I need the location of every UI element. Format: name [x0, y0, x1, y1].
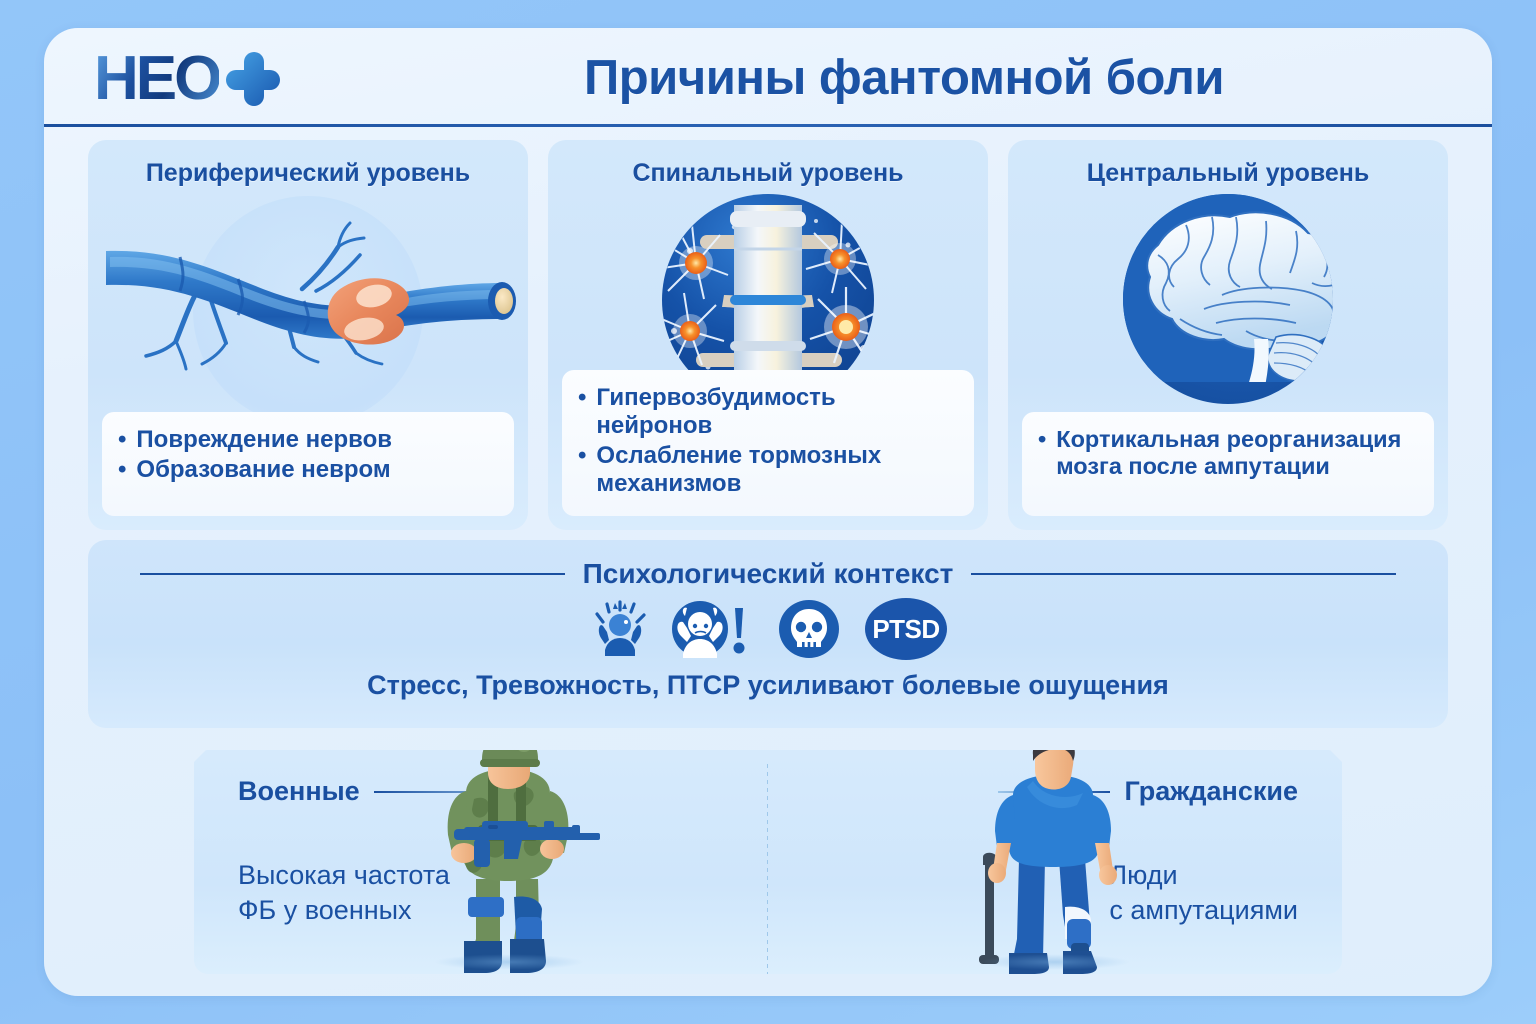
level-card-central[interactable]: Центральный уровень [1008, 140, 1448, 530]
bullet-text: Повреждение нервов [136, 426, 392, 454]
group-title-military: Военные [238, 776, 360, 807]
psychological-context-header: Психологический контекст [88, 540, 1448, 590]
rule-right [971, 573, 1396, 575]
bullet-item: • Гипервозбудимость нейронов [578, 384, 958, 440]
header-divider [44, 124, 1492, 127]
bullet-item: • Кортикальная реорганизация мозга после… [1038, 426, 1418, 481]
figure-shadow [434, 954, 584, 970]
stress-person-icon [589, 598, 651, 660]
psychological-caption: Стресс, Тревожность, ПТСР усиливают боле… [88, 670, 1448, 701]
anxiety-person-icon [669, 598, 753, 660]
brain-head-svg [1008, 190, 1448, 382]
psychological-context-section: Психологический контекст [88, 540, 1448, 728]
level-title-peripheral: Периферический уровень [88, 159, 528, 188]
figure-shadow [980, 954, 1130, 970]
bullet-item: • Образование невром [118, 456, 498, 484]
nerve-damage-icon [88, 190, 528, 382]
bullet-marker: • [578, 442, 586, 498]
page-title: Причины фантомной боли [374, 50, 1434, 106]
level-bullets-spinal: • Гипервозбудимость нейронов • Ослаблени… [562, 370, 974, 516]
brain-icon [1008, 190, 1448, 382]
skull-svg [771, 598, 847, 660]
skull-icon [771, 598, 847, 660]
bullet-item: • Повреждение нервов [118, 426, 498, 454]
ptsd-label: PTSD [872, 614, 939, 645]
rule-left [140, 573, 565, 575]
levels-row: Периферический уровень [88, 140, 1448, 530]
bullet-marker: • [1038, 426, 1046, 481]
bullet-text: Гипервозбудимость нейронов [596, 384, 958, 440]
bullet-marker: • [118, 426, 126, 454]
groups-row: Военные Высокая частота ФБ у военных [194, 750, 1342, 974]
level-title-central: Центральный уровень [1008, 159, 1448, 188]
bullet-text: Ослабление тормозных механизмов [596, 442, 958, 498]
header: HEO Причины фантомной боли [44, 28, 1492, 124]
ptsd-badge-icon: PTSD [865, 598, 947, 660]
plus-icon [225, 51, 281, 107]
level-bullets-peripheral: • Повреждение нервов • Образование невро… [102, 412, 514, 516]
soldier-svg [404, 750, 614, 974]
spinal-cord-icon [548, 190, 988, 382]
civilian-figure-icon [967, 750, 1142, 974]
bullet-item: • Ослабление тормозных механизмов [578, 442, 958, 498]
soldier-figure-icon [404, 750, 614, 974]
level-bullets-central: • Кортикальная реорганизация мозга после… [1022, 412, 1434, 516]
group-title-civilian: Гражданские [1124, 776, 1298, 807]
level-card-spinal[interactable]: Спинальный уровень [548, 140, 988, 530]
nerve-illustration-svg [88, 190, 528, 382]
infographic-root: HEO Причины фантомной боли Периферически… [0, 0, 1536, 1024]
bullet-text: Кортикальная реорганизация мозга после а… [1056, 426, 1418, 481]
psychological-context-title: Психологический контекст [583, 558, 954, 590]
brand-logo-text: HEO [94, 48, 219, 110]
level-card-peripheral[interactable]: Периферический уровень [88, 140, 528, 530]
anxiety-person-svg [669, 598, 753, 660]
civilian-svg [967, 750, 1142, 974]
bullet-text: Образование невром [136, 456, 390, 484]
psychological-icons-row: PTSD [88, 598, 1448, 660]
bullet-marker: • [578, 384, 586, 440]
brand-logo: HEO [94, 46, 344, 112]
main-panel: HEO Причины фантомной боли Периферически… [44, 28, 1492, 996]
level-title-spinal: Спинальный уровень [548, 159, 988, 188]
stress-person-svg [589, 598, 651, 660]
bullet-marker: • [118, 456, 126, 484]
group-panel-military[interactable]: Военные Высокая частота ФБ у военных [194, 750, 768, 974]
group-panel-civilian[interactable]: Гражданские Люди с ампутациями [768, 750, 1342, 974]
spine-neurons-svg [548, 190, 988, 382]
